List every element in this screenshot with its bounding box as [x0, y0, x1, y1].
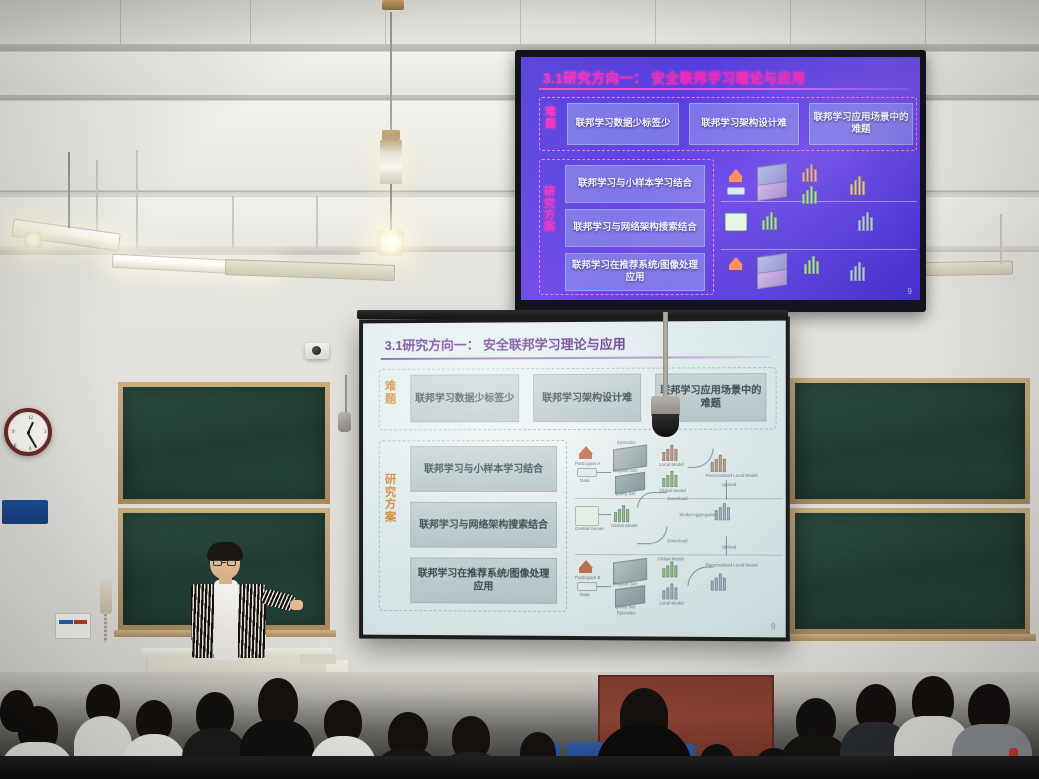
diagram-label-model-aggregation: Model Aggregation	[679, 512, 717, 517]
projection-screen[interactable]: 3.1研究方向一： 安全联邦学习理论与应用 难 题 联邦学习数据少标签少 联邦学…	[359, 317, 790, 642]
diagram-label-data-b: Data	[580, 592, 590, 597]
diagram-label-query-set-b: Query Set	[615, 604, 635, 609]
projection-federated-learning-diagram: Participant A Data Episodes Support Set …	[575, 440, 785, 618]
diagram-label-episodes-b: Episodes	[617, 610, 636, 615]
blackboard-right-lower	[790, 508, 1030, 634]
blackboard-left-upper	[118, 382, 330, 504]
speaker-glasses-bridge	[222, 562, 226, 563]
camera-lens-icon	[312, 346, 321, 355]
wall-mounted-tv[interactable]: 3.1研究方向一： 安全联邦学习理论与应用 难 题 联邦学习数据少标签少 联邦学…	[515, 50, 926, 312]
diagram-label-data: Data	[580, 478, 590, 483]
tube-light-glow	[24, 232, 42, 248]
projection-section-2-label: 研 究 方 案	[383, 474, 399, 524]
camera-cable	[345, 375, 347, 415]
pendant-cap	[382, 130, 400, 140]
diagram-node-data-b	[577, 582, 597, 591]
tv-section-1-label: 难 题	[543, 107, 558, 130]
wall-telephone[interactable]	[100, 580, 112, 614]
speaker-shirt	[214, 580, 238, 660]
tv-difficulty-box-2: 联邦学习架构设计难	[689, 103, 799, 145]
speaker-glasses-left-lens	[213, 560, 222, 566]
speaker-hair	[207, 542, 243, 561]
diagram-label-query-set: Query Set	[615, 491, 635, 496]
chalk-rail-right	[786, 634, 1036, 641]
tv-title-underline	[539, 88, 909, 90]
projection-section-1-label: 难 题	[383, 381, 399, 406]
diagram-label-personalized-local-model-a: Personalized Local Model	[706, 473, 758, 478]
diagram-label-download-b: Download	[667, 538, 687, 543]
projection-title-underline	[381, 356, 771, 360]
white-info-plaque	[55, 613, 91, 639]
pendant-lamp	[380, 140, 402, 184]
diagram-label-central-server: Central Server	[575, 526, 604, 531]
speaker-glasses-right-lens	[227, 560, 236, 566]
podium-paper-tray	[300, 654, 336, 664]
tv-difficulty-box-3: 联邦学习应用场景中的难题	[809, 103, 913, 145]
conduit-drop	[136, 150, 138, 252]
wall-conduit	[0, 252, 360, 255]
projection-difficulty-box-2: 联邦学习架构设计难	[533, 374, 641, 422]
dome-camera-rod	[663, 312, 668, 400]
tv-federated-learning-diagram	[721, 157, 920, 297]
diagram-node-central-server	[575, 506, 599, 526]
projection-solution-box-1: 联邦学习与小样本学习结合	[410, 446, 557, 492]
diagram-label-download-a: Download	[667, 496, 687, 501]
lecture-hall-photo: 3.1研究方向一： 安全联邦学习理论与应用 难 题 联邦学习数据少标签少 联邦学…	[0, 0, 1039, 779]
foreground-shadow	[0, 756, 1039, 779]
tv-section-2-label: 研 究 方 案	[542, 187, 557, 233]
tv-solution-box-1: 联邦学习与小样本学习结合	[565, 165, 705, 203]
diagram-label-global-model: Global Model	[611, 523, 638, 528]
blackboard-right-upper	[790, 378, 1030, 504]
tv-screen: 3.1研究方向一： 安全联邦学习理论与应用 难 题 联邦学习数据少标签少 联邦学…	[521, 57, 920, 300]
blue-safety-sign	[2, 500, 48, 524]
projection-solution-box-2: 联邦学习与网络架构搜索结合	[410, 502, 557, 548]
diagram-label-support-set-b: Support Set	[613, 581, 637, 586]
clock-face: 12 4 6 8 9 3	[10, 414, 46, 450]
diagram-label-global-model-b: Global Model	[657, 556, 684, 561]
conduit-drop	[1000, 214, 1002, 264]
hanging-hardware	[338, 412, 351, 432]
projection-difficulty-box-1: 联邦学习数据少标签少	[410, 374, 519, 422]
tv-slide-title: 3.1研究方向一： 安全联邦学习理论与应用	[543, 67, 806, 87]
wall-clock: 12 4 6 8 9 3	[4, 408, 52, 456]
projection-surface: 3.1研究方向一： 安全联邦学习理论与应用 难 题 联邦学习数据少标签少 联邦学…	[363, 321, 786, 638]
diagram-label-episodes: Episodes	[617, 440, 636, 445]
diagram-node-data-a	[577, 468, 597, 477]
diagram-label-participant-b: Participant B	[575, 575, 601, 580]
diagram-label-participant-a: Participant A	[575, 461, 600, 466]
conduit-drop	[316, 196, 318, 252]
audience-head	[0, 690, 34, 732]
diagram-label-local-model-b: Local Model	[659, 600, 683, 605]
tv-solution-box-3: 联邦学习在推荐系统/图像处理应用	[565, 253, 705, 291]
diagram-label-local-model-a: Local Model	[659, 462, 683, 467]
pendant-ceiling-mount	[382, 0, 404, 10]
tv-solution-box-2: 联邦学习与网络架构搜索结合	[565, 209, 705, 247]
speaker-right-hand	[290, 600, 303, 610]
projection-solution-box-3: 联邦学习在推荐系统/图像处理应用	[410, 557, 557, 603]
tv-page-number: 9	[908, 287, 912, 296]
projection-slide-title: 3.1研究方向一： 安全联邦学习理论与应用	[385, 334, 626, 354]
projection-page-number: 9	[771, 622, 776, 631]
diagram-label-upload-a: Upload	[722, 482, 736, 487]
pendant-lamp-glow	[377, 230, 404, 256]
diagram-label-upload-b: Upload	[722, 544, 736, 549]
ceiling-tile-grid	[0, 0, 1039, 46]
clock-minute-hand	[27, 432, 37, 447]
tv-difficulty-box-1: 联邦学习数据少标签少	[567, 103, 679, 145]
dome-camera-body	[651, 396, 680, 416]
pendant-rod	[390, 184, 392, 232]
wall-mounted-camera	[305, 343, 329, 359]
pendant-rod	[68, 152, 70, 228]
diagram-label-support-set: Support Set	[613, 468, 637, 473]
conduit-drop	[232, 196, 234, 252]
telephone-cord	[104, 612, 107, 642]
